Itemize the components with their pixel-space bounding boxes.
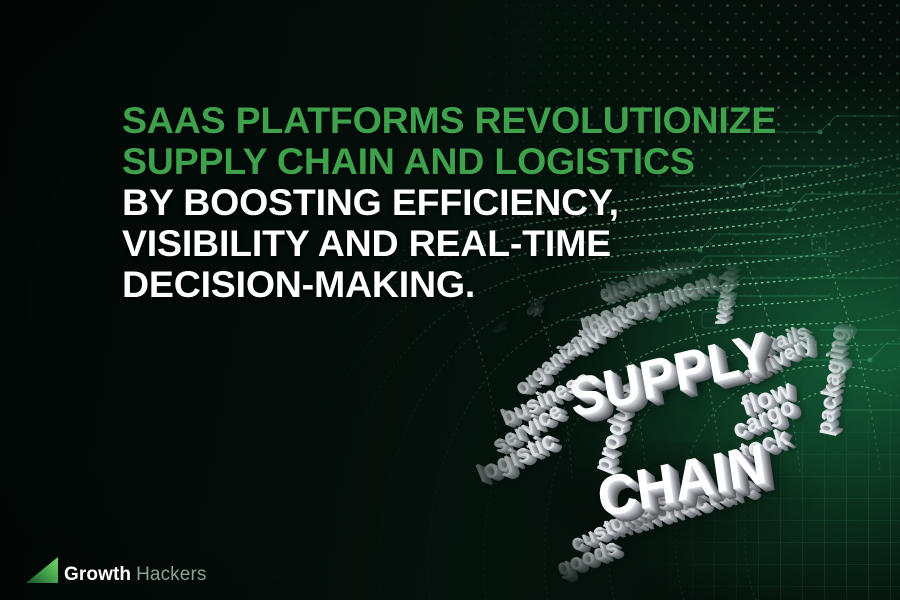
logo-wordmark: GrowthHackers xyxy=(64,565,206,585)
headline-line-4: VISIBILITY AND REAL-TIME xyxy=(122,223,822,264)
growth-hackers-logo[interactable]: GrowthHackers xyxy=(24,555,213,585)
logo-word-growth: Growth xyxy=(64,564,131,585)
headline-block: SAAS PLATFORMS REVOLUTIONIZE SUPPLY CHAI… xyxy=(122,100,822,305)
headline-line-2: SUPPLY CHAIN AND LOGISTICS xyxy=(122,141,822,182)
promo-banner: SAAS PLATFORMS REVOLUTIONIZE SUPPLY CHAI… xyxy=(0,0,900,600)
headline-line-5: DECISION-MAKING. xyxy=(122,264,822,305)
logo-word-hackers: Hackers xyxy=(136,564,206,585)
headline-line-3: BY BOOSTING EFFICIENCY, xyxy=(122,182,822,223)
word-cloud-stage: distributionmanagementinventorysecurityt… xyxy=(452,262,900,600)
supply-chain-word-cloud-image: distributionmanagementinventorysecurityt… xyxy=(452,262,900,600)
headline-line-1: SAAS PLATFORMS REVOLUTIONIZE xyxy=(122,100,822,141)
word-cloud-word: packaging xyxy=(811,324,853,438)
